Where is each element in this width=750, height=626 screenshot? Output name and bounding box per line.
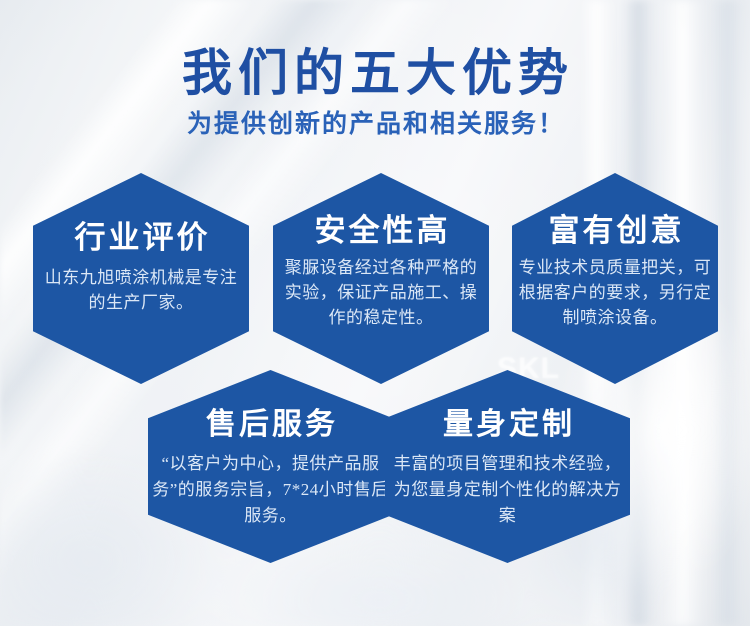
advantage-title: 安全性高 [312, 212, 451, 250]
advantage-title: 富有创意 [546, 212, 685, 250]
heading-block: 我们的五大优势 为提供创新的产品和相关服务！ [0, 44, 750, 142]
advantage-title: 售后服务 [203, 406, 338, 444]
page-subtitle: 为提供创新的产品和相关服务！ [0, 108, 750, 142]
advantage-body: 丰富的项目管理和技术经验，为您量身定制个性化的解决方案 [385, 451, 630, 529]
advantage-body: 专业技术员质量把关，可根据客户的要求，另行定制喷涂设备。 [512, 255, 718, 330]
advantage-title: 行业评价 [72, 219, 211, 257]
advantage-title: 量身定制 [440, 406, 575, 444]
advantage-body: 山东九旭喷涂机械是专注的生产厂家。 [33, 265, 249, 315]
advantage-card-tailored-customization[interactable]: 量身定制 丰富的项目管理和技术经验，为您量身定制个性化的解决方案 [385, 370, 630, 563]
advantage-card-high-safety[interactable]: 安全性高 聚脲设备经过各种严格的实验，保证产品施工、操作的稳定性。 [273, 173, 489, 384]
advantage-body: 聚脲设备经过各种严格的实验，保证产品施工、操作的稳定性。 [273, 255, 489, 330]
advantage-card-industry-reputation[interactable]: 行业评价 山东九旭喷涂机械是专注的生产厂家。 [33, 173, 249, 384]
advantage-card-after-sales-service[interactable]: 售后服务 “以客户为中心，提供产品服务”的服务宗旨，7*24小时售后服务。 [148, 370, 393, 563]
advantage-body: “以客户为中心，提供产品服务”的服务宗旨，7*24小时售后服务。 [148, 451, 393, 529]
advantage-card-creativity[interactable]: 富有创意 专业技术员质量把关，可根据客户的要求，另行定制喷涂设备。 [512, 173, 718, 384]
advantages-banner: SKL 我们的五大优势 为提供创新的产品和相关服务！ 行业评价 山东九旭喷涂机械… [0, 0, 750, 626]
page-title: 我们的五大优势 [0, 44, 750, 102]
